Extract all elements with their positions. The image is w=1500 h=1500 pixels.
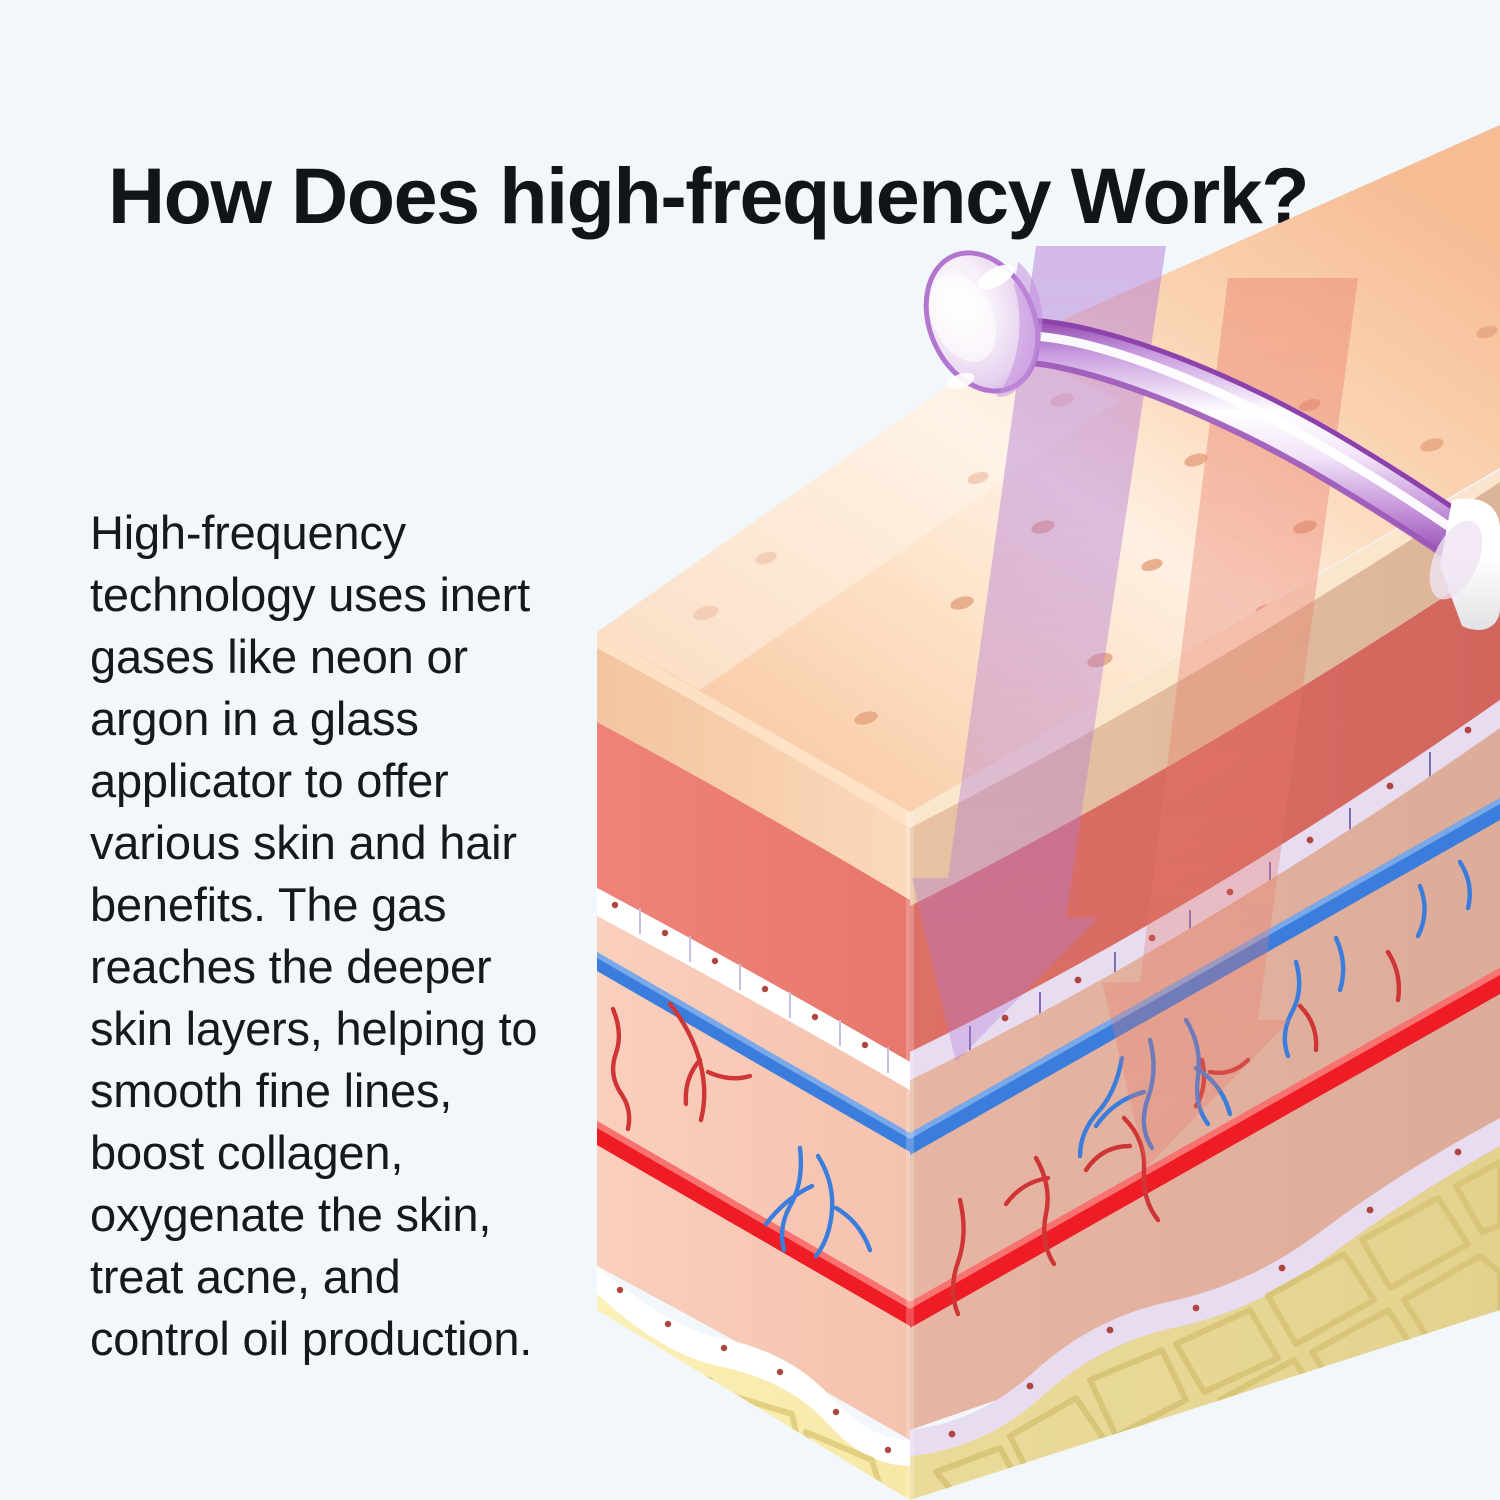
electrode-highlight-top: [974, 260, 1018, 295]
wand-electrode[interactable]: [905, 235, 1059, 409]
capillaries-blue-left: [766, 1148, 870, 1256]
skin-block: [572, 125, 1500, 1500]
membrane-dots-left: [612, 902, 868, 1048]
fat-cells-right: [936, 1162, 1500, 1500]
block-front-edge: [906, 812, 914, 1500]
beam-violet: [912, 246, 1166, 1062]
capillaries-blue-right: [1080, 862, 1470, 1156]
wand-handle[interactable]: [1440, 498, 1500, 629]
skin-pores: [692, 324, 1499, 727]
electrode-core-glow: [917, 264, 1009, 372]
membrane-ticks-right: [970, 752, 1430, 1052]
body-paragraph: High-frequency technology uses inert gas…: [90, 502, 550, 1370]
beam-warm: [1102, 278, 1358, 1168]
wand-glass-tube: [1014, 318, 1482, 566]
wand-tube-highlight: [1030, 336, 1466, 538]
electrode-highlight-bottom: [945, 370, 976, 393]
wand-handle-collar: [1419, 513, 1493, 608]
fat-cells-left: [572, 1326, 884, 1500]
electrode-rim-shade: [996, 262, 1042, 397]
membrane-dots-lower-right: [949, 1149, 1462, 1438]
page-title: How Does high-frequency Work?: [108, 156, 1308, 235]
membrane-dots-lower-left: [617, 1287, 891, 1453]
capillaries-red-right: [953, 952, 1399, 1314]
wand-tube-edge-top: [1022, 320, 1480, 526]
membrane-ticks-left: [640, 908, 888, 1073]
skin-left-face: [572, 632, 910, 1500]
infographic-root: How Does high-frequency Work? High-frequ…: [0, 0, 1500, 1500]
skin-right-face: [910, 468, 1500, 1500]
high-frequency-wand[interactable]: [905, 235, 1500, 630]
capillaries-red-left: [613, 1004, 750, 1129]
wand-tube-edge-bottom: [1014, 362, 1456, 564]
membrane-dots-right: [1002, 727, 1472, 1022]
